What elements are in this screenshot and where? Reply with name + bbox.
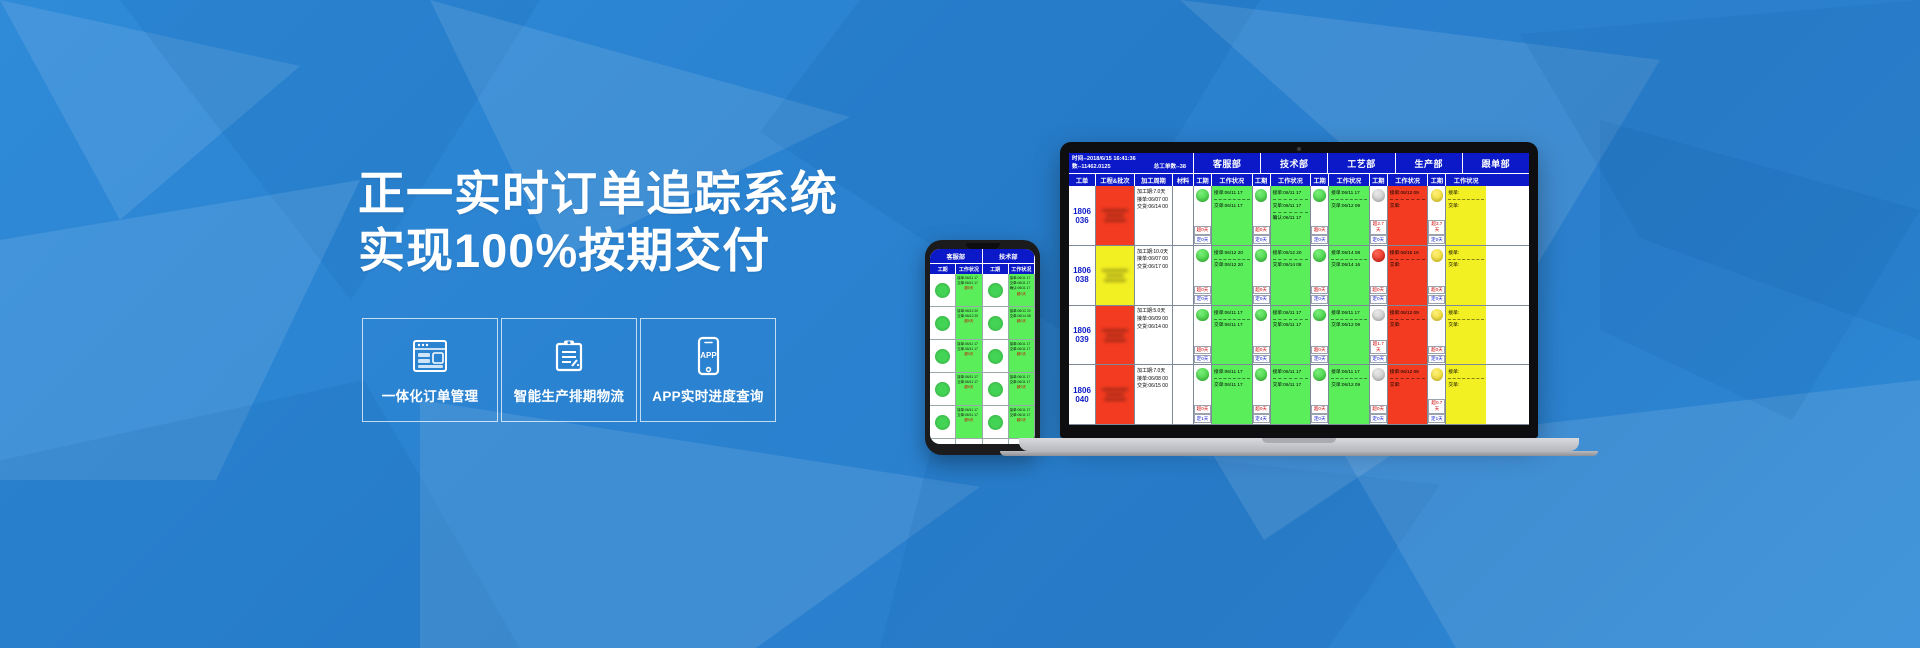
status-tag: 超0天 (957, 319, 980, 324)
status-indicator-dot (1372, 368, 1385, 381)
status-line: 接单:06/11 17 (1273, 309, 1309, 320)
project-batch-cell (1095, 306, 1134, 365)
status-tag: 超0天 (1253, 405, 1270, 414)
dashboard-col-label: 工作状况 (1445, 174, 1486, 186)
work-status-cell: 接单:06/12 09交单: (1387, 365, 1428, 424)
status-indicator-dot (1255, 249, 1268, 262)
dashboard-col-label: 工期 (1193, 174, 1211, 186)
dashboard-department-header: 客服部技术部工艺部生产部跟单部 (1193, 153, 1529, 173)
status-line: 接单:06/12 09 (1390, 309, 1426, 320)
status-line: 交单: (1390, 381, 1426, 390)
status-line: 交单:06/11 17 (1273, 321, 1309, 330)
phone-dept-label: 技术部 (983, 249, 1036, 263)
work-status-cell: 接单:06/11 17交单:06/11 17 (1211, 186, 1252, 245)
status-line: 接单:06/12 09 (1390, 368, 1426, 379)
status-line: 交单: (1390, 261, 1426, 270)
dashboard-dept-label: 工艺部 (1327, 153, 1394, 173)
status-tag: 超0天 (1194, 286, 1211, 295)
status-tag: 定4天 (1253, 414, 1270, 423)
status-tag: 超0天 (1428, 286, 1445, 295)
work-status-cell: 接单:交单: (1445, 365, 1486, 424)
status-line: 接单:06/12 20 (1214, 249, 1250, 260)
status-tag: 超2.7天 (1370, 220, 1387, 235)
phone-duration-cell (983, 307, 1008, 340)
work-status-cell: 接单:交单: (1445, 306, 1486, 365)
laptop-mockup: 时间--2018/6/15 16:41:36 数--11462.0125 总工单… (1060, 142, 1538, 456)
work-status-cell: 接单:06/12 09交单: (1387, 306, 1428, 365)
work-status-cell: 接单:06/11 17交单:06/12 09 (1328, 186, 1369, 245)
status-line: 交单:06/11 17 (1273, 202, 1309, 213)
status-tag: 超3.7天 (1428, 220, 1445, 235)
status-tag: 超0天 (1010, 385, 1033, 390)
phone-duration-cell (983, 274, 1008, 307)
feature-card-label: 智能生产排期物流 (514, 385, 624, 405)
status-tag: 超0天 (1311, 286, 1328, 295)
phone-duration-cell (930, 274, 955, 307)
work-status-cell: 接单:06/11 17交单:06/12 09 (1328, 365, 1369, 424)
table-row[interactable]: 1806038加工期:10.0天接单:06/07 00交货:06/17 00超0… (1069, 246, 1529, 306)
status-line: 接单:06/11 17 (1331, 189, 1367, 200)
status-indicator-dot (935, 415, 950, 430)
processing-cycle-cell: 加工期:7.0天接单:06/07 00交货:06/14 00 (1134, 186, 1172, 245)
status-line: 交单:06/12 09 (1331, 381, 1367, 390)
dashboard-topbar: 时间--2018/6/15 16:41:36 数--11462.0125 总工单… (1069, 153, 1529, 173)
phone-duration-column (983, 274, 1009, 444)
table-row[interactable]: 1806040加工期:7.0天接单:06/08 00交货:06/15 00超0天… (1069, 365, 1529, 425)
processing-cycle-cell: 加工期:10.0天接单:06/07 00交货:06/17 00 (1134, 246, 1172, 305)
duration-cell: 超0天定0天 (1193, 306, 1211, 365)
feature-card-production-scheduling[interactable]: 智能生产排期物流 (501, 318, 637, 422)
status-line: 接单: (1448, 309, 1484, 320)
status-line: 接单:06/11 17 (1214, 309, 1250, 320)
work-status-cell: 接单:06/12 09交单: (1387, 186, 1428, 245)
status-tag: 定0天 (1370, 355, 1387, 364)
dashboard-col-label: 工期 (1310, 174, 1328, 186)
phone-status-cell: 接单:06/11 17交单:06/11 17超0天 (956, 274, 981, 307)
phone-status-cell: 接单:06/11 17交单:06/11 17确认:06/11 17超0天 (1009, 274, 1034, 307)
status-indicator-dot (1431, 189, 1444, 202)
phone-dept-label: 客服部 (930, 249, 983, 263)
status-indicator-dot (1313, 249, 1326, 262)
duration-cell: 超0天定0天 (1252, 306, 1270, 365)
status-line: 交单:06/14 16 (1331, 261, 1367, 270)
duration-cell: 超0天定0天 (1369, 365, 1387, 424)
duration-cell: 超0天定0天 (1310, 246, 1328, 305)
status-line: 接单:06/15 16 (1390, 249, 1426, 260)
status-tag: 定0天 (1370, 295, 1387, 304)
phone-duration-cell (983, 373, 1008, 406)
status-indicator-dot (1196, 189, 1209, 202)
status-tag: 定1天 (1194, 414, 1211, 423)
laptop-foot (1000, 451, 1598, 456)
phone-duration-cell (983, 406, 1008, 439)
material-cell (1172, 186, 1193, 245)
duration-cell: 超0天定4天 (1252, 365, 1270, 424)
status-indicator-dot (1372, 189, 1385, 202)
phone-col-label: 工作状况 (956, 264, 982, 274)
status-line: 交单:06/14 08 (1273, 261, 1309, 270)
material-cell (1172, 365, 1193, 424)
status-tag: 超0天 (1370, 405, 1387, 414)
status-line: 交单: (1390, 321, 1426, 330)
phone-status-cell: 接单:06/11 17交单:06/11 17超0天 (1009, 373, 1034, 406)
status-indicator-dot (1313, 309, 1326, 322)
hero-copy: 正一实时订单追踪系统 实现100%按期交付 (358, 165, 978, 280)
status-tag: 定0天 (1194, 355, 1211, 364)
phone-col-label: 工期 (930, 264, 956, 274)
status-tag: 超0天 (1311, 226, 1328, 235)
phone-duration-cell (930, 307, 955, 340)
duration-cell: 超0天定0天 (1427, 306, 1445, 365)
status-line: 接单:06/11 17 (1331, 309, 1367, 320)
status-indicator-dot (1313, 368, 1326, 381)
phone-status-cell: 接单:06/11 17交单:06/11 17超0天 (956, 373, 981, 406)
work-status-cell: 接单:06/12 20交单:06/14 08 (1270, 246, 1311, 305)
status-indicator-dot (1255, 189, 1268, 202)
phone-duration-cell (983, 340, 1008, 373)
phone-status-cell: 接单:06/11 17交单:06/11 17超0天 (1009, 340, 1034, 373)
feature-card-list: 一体化订单管理 智能生产排期物流 (362, 318, 776, 422)
phone-status-cell: 接单:06/12 20交单:06/14 08超0天 (1009, 307, 1034, 340)
duration-cell: 超3.7天定0天 (1427, 186, 1445, 245)
phone-col-label: 工作状况 (1009, 264, 1035, 274)
status-line: 接单:06/11 17 (1214, 189, 1250, 200)
status-line: 接单: (1448, 249, 1484, 260)
status-tag: 超0天 (1253, 346, 1270, 355)
project-batch-cell (1095, 365, 1134, 424)
status-line: 交单:06/12 20 (1214, 261, 1250, 270)
status-tag: 定0天 (1370, 235, 1387, 244)
phone-status-cell: 接单:06/12 20交单:06/12 20超0天 (956, 307, 981, 340)
status-line: 交单:06/12 09 (1331, 202, 1367, 211)
status-line: 交单: (1448, 261, 1484, 270)
status-tag: 超0天 (1370, 286, 1387, 295)
status-tag: 定0天 (1253, 355, 1270, 364)
status-tag: 超0天 (1311, 405, 1328, 414)
dashboard-col-label: 工作状况 (1387, 174, 1428, 186)
phone-col-label: 工期 (983, 264, 1009, 274)
laptop-lid: 时间--2018/6/15 16:41:36 数--11462.0125 总工单… (1060, 142, 1538, 438)
phone-subheader: 工期 工作状况 工期 工作状况 (930, 263, 1035, 274)
headline-line-2: 实现100%按期交付 (358, 222, 978, 279)
headline-line-1: 正一实时订单追踪系统 (358, 165, 978, 222)
dashboard-col-label: 加工周期 (1134, 174, 1172, 186)
clipboard-document-icon (551, 336, 587, 376)
dashboard-total-orders: 总工单数--38 (1154, 163, 1186, 171)
duration-cell: 超0天定0天 (1252, 186, 1270, 245)
dashboard-dept-label: 跟单部 (1462, 153, 1529, 173)
duration-cell: 超0天定0天 (1310, 186, 1328, 245)
dashboard-col-label: 工作状况 (1328, 174, 1369, 186)
status-tag: 超0天 (957, 286, 980, 291)
dashboard-col-label: 材料 (1172, 174, 1193, 186)
status-line: 交单: (1390, 202, 1426, 211)
status-line: 接单: (1448, 189, 1484, 200)
status-line: 接单: (1448, 368, 1484, 379)
status-line: 接单:06/11 17 (1273, 368, 1309, 379)
duration-cell: 超2.7天定0天 (1369, 186, 1387, 245)
status-line: 交单:06/12 09 (1331, 321, 1367, 330)
status-tag: 定0天 (1428, 295, 1445, 304)
dashboard-column-header: 工单工程&批次加工周期材料工期工作状况工期工作状况工期工作状况工期工作状况工期工… (1069, 173, 1529, 186)
duration-cell: 超0.7天定1天 (1427, 365, 1445, 424)
duration-cell: 超0天定0天 (1427, 246, 1445, 305)
work-status-cell: 接单:交单: (1445, 246, 1486, 305)
status-tag: 定1天 (1428, 414, 1445, 423)
smartphone-mockup: 客服部 技术部 工期 工作状况 工期 工作状况 接单:06/11 17交单:06… (925, 240, 1040, 455)
status-indicator-dot (1431, 249, 1444, 262)
dashboard-col-label: 工作状况 (1270, 174, 1311, 186)
project-batch-cell (1095, 246, 1134, 305)
phone-duration-column (930, 274, 956, 444)
material-cell (1172, 306, 1193, 365)
status-tag: 定0天 (1253, 235, 1270, 244)
dashboard-count: 数--11462.0125 (1072, 163, 1111, 171)
status-tag: 定0天 (1311, 414, 1328, 423)
status-line: 交单:06/11 17 (1214, 321, 1250, 330)
order-number-cell: 1806036 (1069, 186, 1095, 245)
status-indicator-dot (988, 382, 1003, 397)
feature-card-label: 一体化订单管理 (382, 385, 479, 405)
work-status-cell: 接单:06/11 17交单:06/11 17 (1270, 365, 1311, 424)
status-line: 接单:06/12 09 (1390, 189, 1426, 200)
dashboard-info-block: 时间--2018/6/15 16:41:36 数--11462.0125 总工单… (1069, 153, 1193, 173)
processing-cycle-cell: 加工期:5.0天接单:06/09 00交货:06/14 00 (1134, 306, 1172, 365)
status-line: 接单:06/11 17 (1273, 189, 1309, 200)
status-indicator-dot (1196, 368, 1209, 381)
status-tag: 超0天 (1311, 346, 1328, 355)
status-tag: 定0天 (1194, 235, 1211, 244)
status-tag: 定0天 (1253, 295, 1270, 304)
dashboard-col-label: 工期 (1427, 174, 1445, 186)
status-tag: 超0天 (1194, 346, 1211, 355)
status-tag: 超0天 (1253, 226, 1270, 235)
dashboard-dept-label: 技术部 (1260, 153, 1327, 173)
status-tag: 定0天 (1428, 235, 1445, 244)
status-indicator-dot (935, 283, 950, 298)
dashboard-time: 时间--2018/6/15 16:41:36 (1072, 155, 1190, 163)
phone-department-header: 客服部 技术部 (930, 249, 1035, 263)
status-tag: 超0天 (1194, 405, 1211, 414)
laptop-base (1019, 438, 1579, 451)
dashboard-rows: 1806036加工期:7.0天接单:06/07 00交货:06/14 00超0天… (1069, 186, 1529, 425)
status-tag: 定0天 (1311, 235, 1328, 244)
status-indicator-dot (1372, 249, 1385, 262)
status-tag: 定0天 (1370, 414, 1387, 423)
status-tag: 超0.7天 (1428, 399, 1445, 414)
status-tag: 超0天 (1010, 418, 1033, 423)
status-line: 确认:06/11 17 (1010, 286, 1033, 291)
feature-card-order-management[interactable]: 一体化订单管理 (362, 318, 498, 422)
status-tag: 超0天 (957, 385, 980, 390)
feature-card-app-progress[interactable]: APP APP实时进度查询 (640, 318, 776, 422)
status-tag: 超0天 (1428, 346, 1445, 355)
duration-cell: 超0天定0天 (1369, 246, 1387, 305)
status-tag: 定0天 (1311, 355, 1328, 364)
status-line: 接单:06/11 17 (1331, 368, 1367, 379)
mobile-app-icon: APP (693, 336, 723, 376)
duration-cell: 超0天定0天 (1310, 365, 1328, 424)
phone-status-cell: 接单:06/11 17交单:06/11 17超0天 (1009, 406, 1034, 439)
status-tag: 超0天 (1010, 319, 1033, 324)
status-line: 接单:06/11 17 (1214, 368, 1250, 379)
status-tag: 超0天 (1010, 352, 1033, 357)
status-indicator-dot (935, 316, 950, 331)
duration-cell: 超0天定0天 (1193, 246, 1211, 305)
duration-cell: 超0天定0天 (1310, 306, 1328, 365)
work-status-cell: 接单:06/12 20交单:06/12 20 (1211, 246, 1252, 305)
status-line: 接单:06/12 20 (1273, 249, 1309, 260)
status-indicator-dot (935, 349, 950, 364)
layout-window-icon (411, 336, 449, 376)
status-line: 交单:06/11 17 (1214, 202, 1250, 211)
status-tag: 超0天 (957, 418, 980, 423)
status-tag: 定0天 (1194, 295, 1211, 304)
order-tracking-dashboard: 时间--2018/6/15 16:41:36 数--11462.0125 总工单… (1069, 153, 1529, 425)
status-indicator-dot (988, 415, 1003, 430)
duration-cell: 超1.7天定0天 (1369, 306, 1387, 365)
status-indicator-dot (988, 316, 1003, 331)
duration-cell: 超0天定0天 (1252, 246, 1270, 305)
table-row[interactable]: 1806036加工期:7.0天接单:06/07 00交货:06/14 00超0天… (1069, 186, 1529, 246)
work-status-cell: 接单:06/15 16交单: (1387, 246, 1428, 305)
status-indicator-dot (1313, 189, 1326, 202)
laptop-screen: 时间--2018/6/15 16:41:36 数--11462.0125 总工单… (1069, 153, 1529, 425)
status-tag: 定0天 (1311, 295, 1328, 304)
status-indicator-dot (988, 283, 1003, 298)
status-line: 交单: (1448, 202, 1484, 211)
dashboard-dept-label: 生产部 (1395, 153, 1462, 173)
order-number-cell: 1806038 (1069, 246, 1095, 305)
work-status-cell: 接单:06/11 17交单:06/11 17 (1211, 306, 1252, 365)
work-status-cell: 接单:交单: (1445, 186, 1486, 245)
dashboard-col-label: 工程&批次 (1095, 174, 1134, 186)
duration-cell: 超0天定0天 (1193, 186, 1211, 245)
status-tag: 超0天 (1194, 226, 1211, 235)
phone-status-cell: 接单:06/11 17交单:06/11 17超0天 (956, 340, 981, 373)
dashboard-dept-label: 客服部 (1193, 153, 1260, 173)
work-status-cell: 接单:06/11 17交单:06/11 17 (1270, 306, 1311, 365)
phone-duration-cell (930, 340, 955, 373)
status-indicator-dot (1196, 249, 1209, 262)
svg-text:APP: APP (700, 351, 717, 360)
material-cell (1172, 246, 1193, 305)
phone-status-column: 接单:06/11 17交单:06/11 17确认:06/11 17超0天接单:0… (1009, 274, 1035, 444)
dashboard-col-label: 工单 (1069, 174, 1095, 186)
dashboard-col-label: 工期 (1252, 174, 1270, 186)
project-batch-cell (1095, 186, 1134, 245)
status-indicator-dot (1431, 368, 1444, 381)
order-number-cell: 1806040 (1069, 365, 1095, 424)
status-tag: 定0天 (1428, 355, 1445, 364)
status-indicator-dot (988, 349, 1003, 364)
duration-cell: 超0天定1天 (1193, 365, 1211, 424)
status-tag: 超0天 (957, 352, 980, 357)
phone-status-column: 接单:06/11 17交单:06/11 17超0天接单:06/12 20交单:0… (956, 274, 982, 444)
status-line: 交单:06/11 17 (1214, 381, 1250, 390)
status-line: 交单:06/11 17 (1273, 381, 1309, 390)
status-indicator-dot (1196, 309, 1209, 322)
table-row[interactable]: 1806039加工期:5.0天接单:06/09 00交货:06/14 00超0天… (1069, 306, 1529, 366)
work-status-cell: 接单:06/11 17交单:06/11 17确认:06/11 17 (1270, 186, 1311, 245)
dashboard-col-label: 工期 (1369, 174, 1387, 186)
status-indicator-dot (935, 382, 950, 397)
banner-stage: 正一实时订单追踪系统 实现100%按期交付 一体化订单管理 (0, 0, 1920, 648)
work-status-cell: 接单:06/11 17交单:06/12 09 (1328, 306, 1369, 365)
work-status-cell: 接单:06/14 08交单:06/14 16 (1328, 246, 1369, 305)
phone-duration-cell (930, 406, 955, 439)
status-line: 接单:06/14 08 (1331, 249, 1367, 260)
order-number-cell: 1806039 (1069, 306, 1095, 365)
status-tag: 超0天 (1253, 286, 1270, 295)
dashboard-col-label: 工作状况 (1211, 174, 1252, 186)
status-indicator-dot (1255, 368, 1268, 381)
status-line: 交单: (1448, 321, 1484, 330)
phone-table-body: 接单:06/11 17交单:06/11 17超0天接单:06/12 20交单:0… (930, 274, 1035, 444)
status-line: 交单: (1448, 381, 1484, 390)
status-tag: 超0天 (1010, 292, 1033, 297)
phone-screen: 客服部 技术部 工期 工作状况 工期 工作状况 接单:06/11 17交单:06… (930, 249, 1035, 444)
status-indicator-dot (1255, 309, 1268, 322)
feature-card-label: APP实时进度查询 (652, 385, 763, 405)
status-indicator-dot (1372, 309, 1385, 322)
work-status-cell: 接单:06/11 17交单:06/11 17 (1211, 365, 1252, 424)
status-indicator-dot (1431, 309, 1444, 322)
phone-duration-cell (930, 373, 955, 406)
phone-status-cell: 接单:06/11 17交单:06/11 17超0天 (956, 406, 981, 439)
status-line: 确认:06/11 17 (1273, 214, 1309, 223)
processing-cycle-cell: 加工期:7.0天接单:06/08 00交货:06/15 00 (1134, 365, 1172, 424)
status-tag: 超1.7天 (1370, 340, 1387, 355)
